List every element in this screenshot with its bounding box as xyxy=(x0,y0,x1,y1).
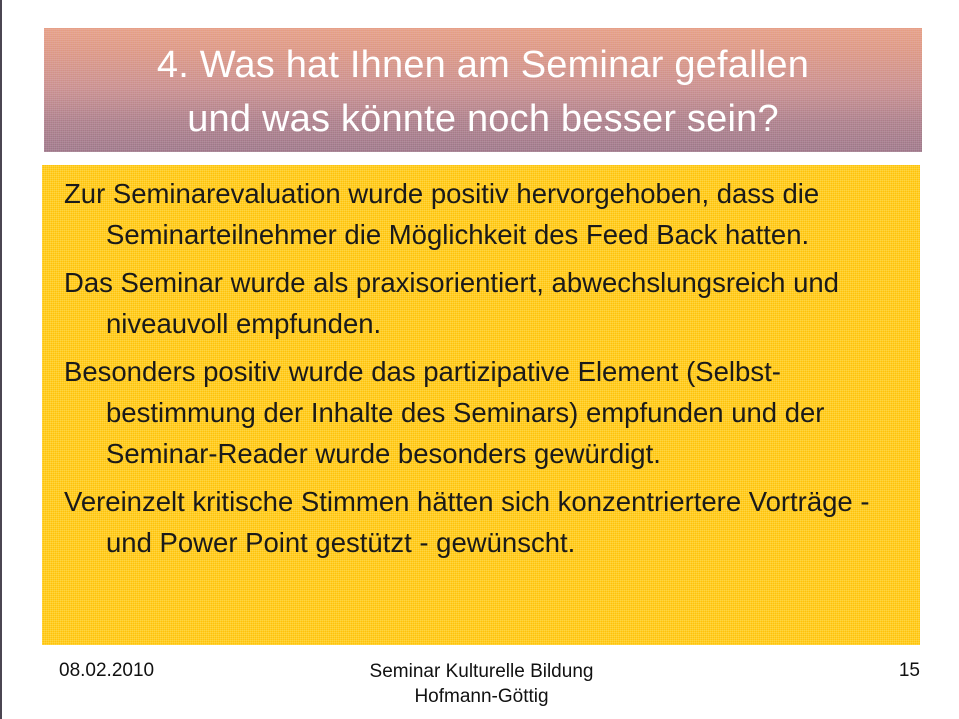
slide-title: 4. Was hat Ihnen am Seminar gefallen und… xyxy=(44,28,922,146)
content-paragraph-1: Zur Seminarevaluation wurde positiv herv… xyxy=(48,173,914,255)
slide-title-banner: 4. Was hat Ihnen am Seminar gefallen und… xyxy=(44,28,922,152)
slide-footer: 08.02.2010 Seminar Kulturelle Bildung Ho… xyxy=(2,655,959,719)
content-paragraph-4: Vereinzelt kritische Stimmen hätten sich… xyxy=(48,481,914,563)
footer-title: Seminar Kulturelle Bildung Hofmann-Götti… xyxy=(2,659,959,709)
content-paragraph-2: Das Seminar wurde als praxisorientiert, … xyxy=(48,262,914,344)
presentation-slide: 4. Was hat Ihnen am Seminar gefallen und… xyxy=(0,0,959,719)
slide-page-number: 15 xyxy=(899,659,920,683)
slide-content-box: Zur Seminarevaluation wurde positiv herv… xyxy=(42,165,920,645)
content-paragraph-3: Besonders positiv wurde das partizipativ… xyxy=(48,351,914,474)
